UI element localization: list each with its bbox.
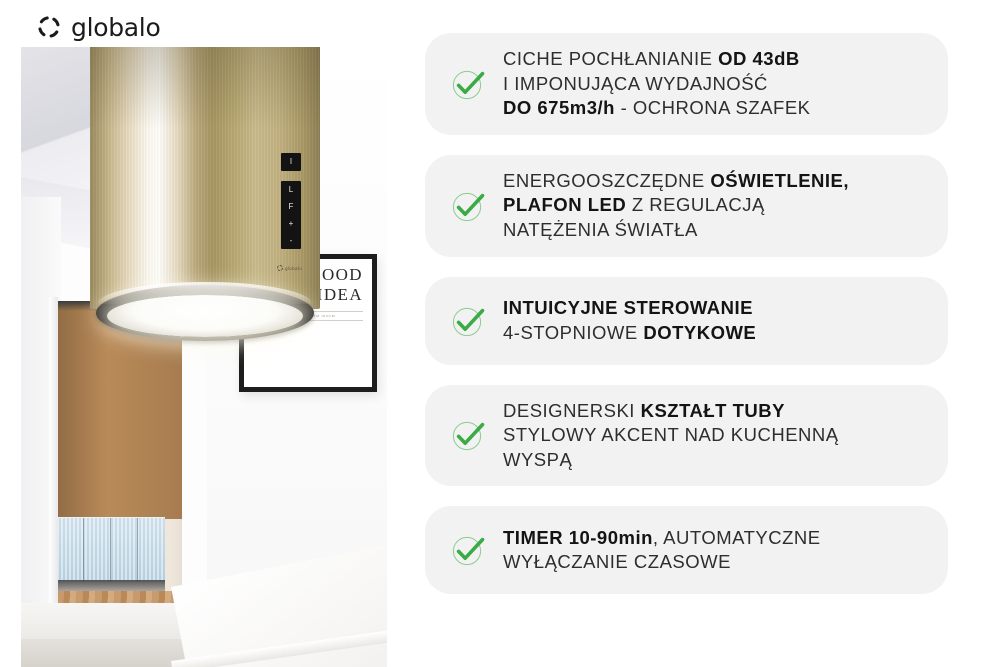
feature-text: TIMER 10-90min, AUTOMATYCZNEWYŁĄCZANIE C… <box>503 526 821 575</box>
feature-line: NATĘŻENIA ŚWIATŁA <box>503 218 849 243</box>
feature-segment: WYŁĄCZANIE CZASOWE <box>503 551 731 572</box>
feature-segment: DESIGNERSKI <box>503 400 641 421</box>
feature-card: ENERGOOSZCZĘDNE OŚWIETLENIE,PLAFON LED Z… <box>425 155 948 257</box>
feature-highlight: OŚWIETLENIE, <box>710 170 849 191</box>
feature-text: INTUICYJNE STEROWANIE4-STOPNIOWE DOTYKOW… <box>503 296 756 345</box>
feature-line: TIMER 10-90min, AUTOMATYCZNE <box>503 526 821 551</box>
feature-card: DESIGNERSKI KSZTAŁT TUBYSTYLOWY AKCENT N… <box>425 385 948 487</box>
feature-segment: ENERGOOSZCZĘDNE <box>503 170 710 191</box>
dashed-circle-icon <box>36 14 62 40</box>
feature-line: I IMPONUJĄCA WYDAJNOŚĆ <box>503 72 811 97</box>
green-check-icon <box>451 189 485 223</box>
feature-highlight: PLAFON LED <box>503 194 626 215</box>
product-photo: A GOOD IDEA LOREM IPSUM I L F + - <box>21 47 387 667</box>
touch-control-panel[interactable]: I L F + - <box>281 153 301 249</box>
feature-text: DESIGNERSKI KSZTAŁT TUBYSTYLOWY AKCENT N… <box>503 399 839 473</box>
feature-line: DESIGNERSKI KSZTAŁT TUBY <box>503 399 839 424</box>
feature-highlight: INTUICYJNE STEROWANIE <box>503 297 753 318</box>
feature-line: CICHE POCHŁANIANIE OD 43dB <box>503 47 811 72</box>
feature-segment: CICHE POCHŁANIANIE <box>503 48 718 69</box>
feature-highlight: KSZTAŁT TUBY <box>641 400 785 421</box>
blue-sideboard-cabinet <box>57 517 165 582</box>
feature-highlight: DOTYKOWE <box>643 322 756 343</box>
feature-line: INTUICYJNE STEROWANIE <box>503 296 756 321</box>
feature-segment: STYLOWY AKCENT NAD KUCHENNĄ <box>503 424 839 445</box>
touch-key-light[interactable]: L <box>281 181 301 198</box>
feature-line: DO 675m3/h - OCHRONA SZAFEK <box>503 96 811 121</box>
brand-logo: globalo <box>36 10 160 44</box>
feature-highlight: DO 675m3/h <box>503 97 615 118</box>
alcove-doorway <box>57 301 182 617</box>
green-check-icon <box>451 533 485 567</box>
door-jamb <box>49 297 58 619</box>
feature-line: STYLOWY AKCENT NAD KUCHENNĄ <box>503 423 839 448</box>
cabinet-seam <box>83 518 84 582</box>
hood-dashed-circle-icon <box>277 265 283 271</box>
touch-key-increase[interactable]: + <box>281 215 301 232</box>
kitchen-scene: A GOOD IDEA LOREM IPSUM I L F + - <box>21 47 387 667</box>
touch-key-power[interactable]: I <box>281 153 301 171</box>
feature-segment: NATĘŻENIA ŚWIATŁA <box>503 219 698 240</box>
cooker-hood: I L F + - globalo <box>90 47 320 309</box>
feature-card: INTUICYJNE STEROWANIE4-STOPNIOWE DOTYKOW… <box>425 277 948 365</box>
feature-line: ENERGOOSZCZĘDNE OŚWIETLENIE, <box>503 169 849 194</box>
cabinet-seam <box>137 518 138 582</box>
touch-key-decrease[interactable]: - <box>281 232 301 249</box>
feature-highlight: OD 43dB <box>718 48 800 69</box>
feature-line: WYSPĄ <box>503 448 839 473</box>
feature-text: CICHE POCHŁANIANIE OD 43dBI IMPONUJĄCA W… <box>503 47 811 121</box>
brand-name: globalo <box>71 15 160 40</box>
feature-segment: WYSPĄ <box>503 449 572 470</box>
green-check-icon <box>451 67 485 101</box>
hood-top-shading <box>90 47 320 129</box>
touch-key-fan[interactable]: F <box>281 198 301 215</box>
feature-card: TIMER 10-90min, AUTOMATYCZNEWYŁĄCZANIE C… <box>425 506 948 594</box>
feature-text: ENERGOOSZCZĘDNE OŚWIETLENIE,PLAFON LED Z… <box>503 169 849 243</box>
feature-card: CICHE POCHŁANIANIE OD 43dBI IMPONUJĄCA W… <box>425 33 948 135</box>
feature-segment: Z REGULACJĄ <box>626 194 765 215</box>
hood-brand-mark: globalo <box>277 265 302 271</box>
feature-list: CICHE POCHŁANIANIE OD 43dBI IMPONUJĄCA W… <box>425 33 948 594</box>
feature-segment: - OCHRONA SZAFEK <box>615 97 811 118</box>
feature-line: WYŁĄCZANIE CZASOWE <box>503 550 821 575</box>
feature-segment: I IMPONUJĄCA WYDAJNOŚĆ <box>503 73 768 94</box>
cabinet-seam <box>110 518 111 582</box>
feature-line: 4-STOPNIOWE DOTYKOWE <box>503 321 756 346</box>
feature-line: PLAFON LED Z REGULACJĄ <box>503 193 849 218</box>
feature-highlight: TIMER 10-90min <box>503 527 653 548</box>
green-check-icon <box>451 304 485 338</box>
feature-segment: 4-STOPNIOWE <box>503 322 643 343</box>
touch-key-group[interactable]: L F + - <box>281 181 301 249</box>
green-check-icon <box>451 418 485 452</box>
feature-segment: , AUTOMATYCZNE <box>653 527 821 548</box>
hood-brand-name: globalo <box>285 266 302 271</box>
